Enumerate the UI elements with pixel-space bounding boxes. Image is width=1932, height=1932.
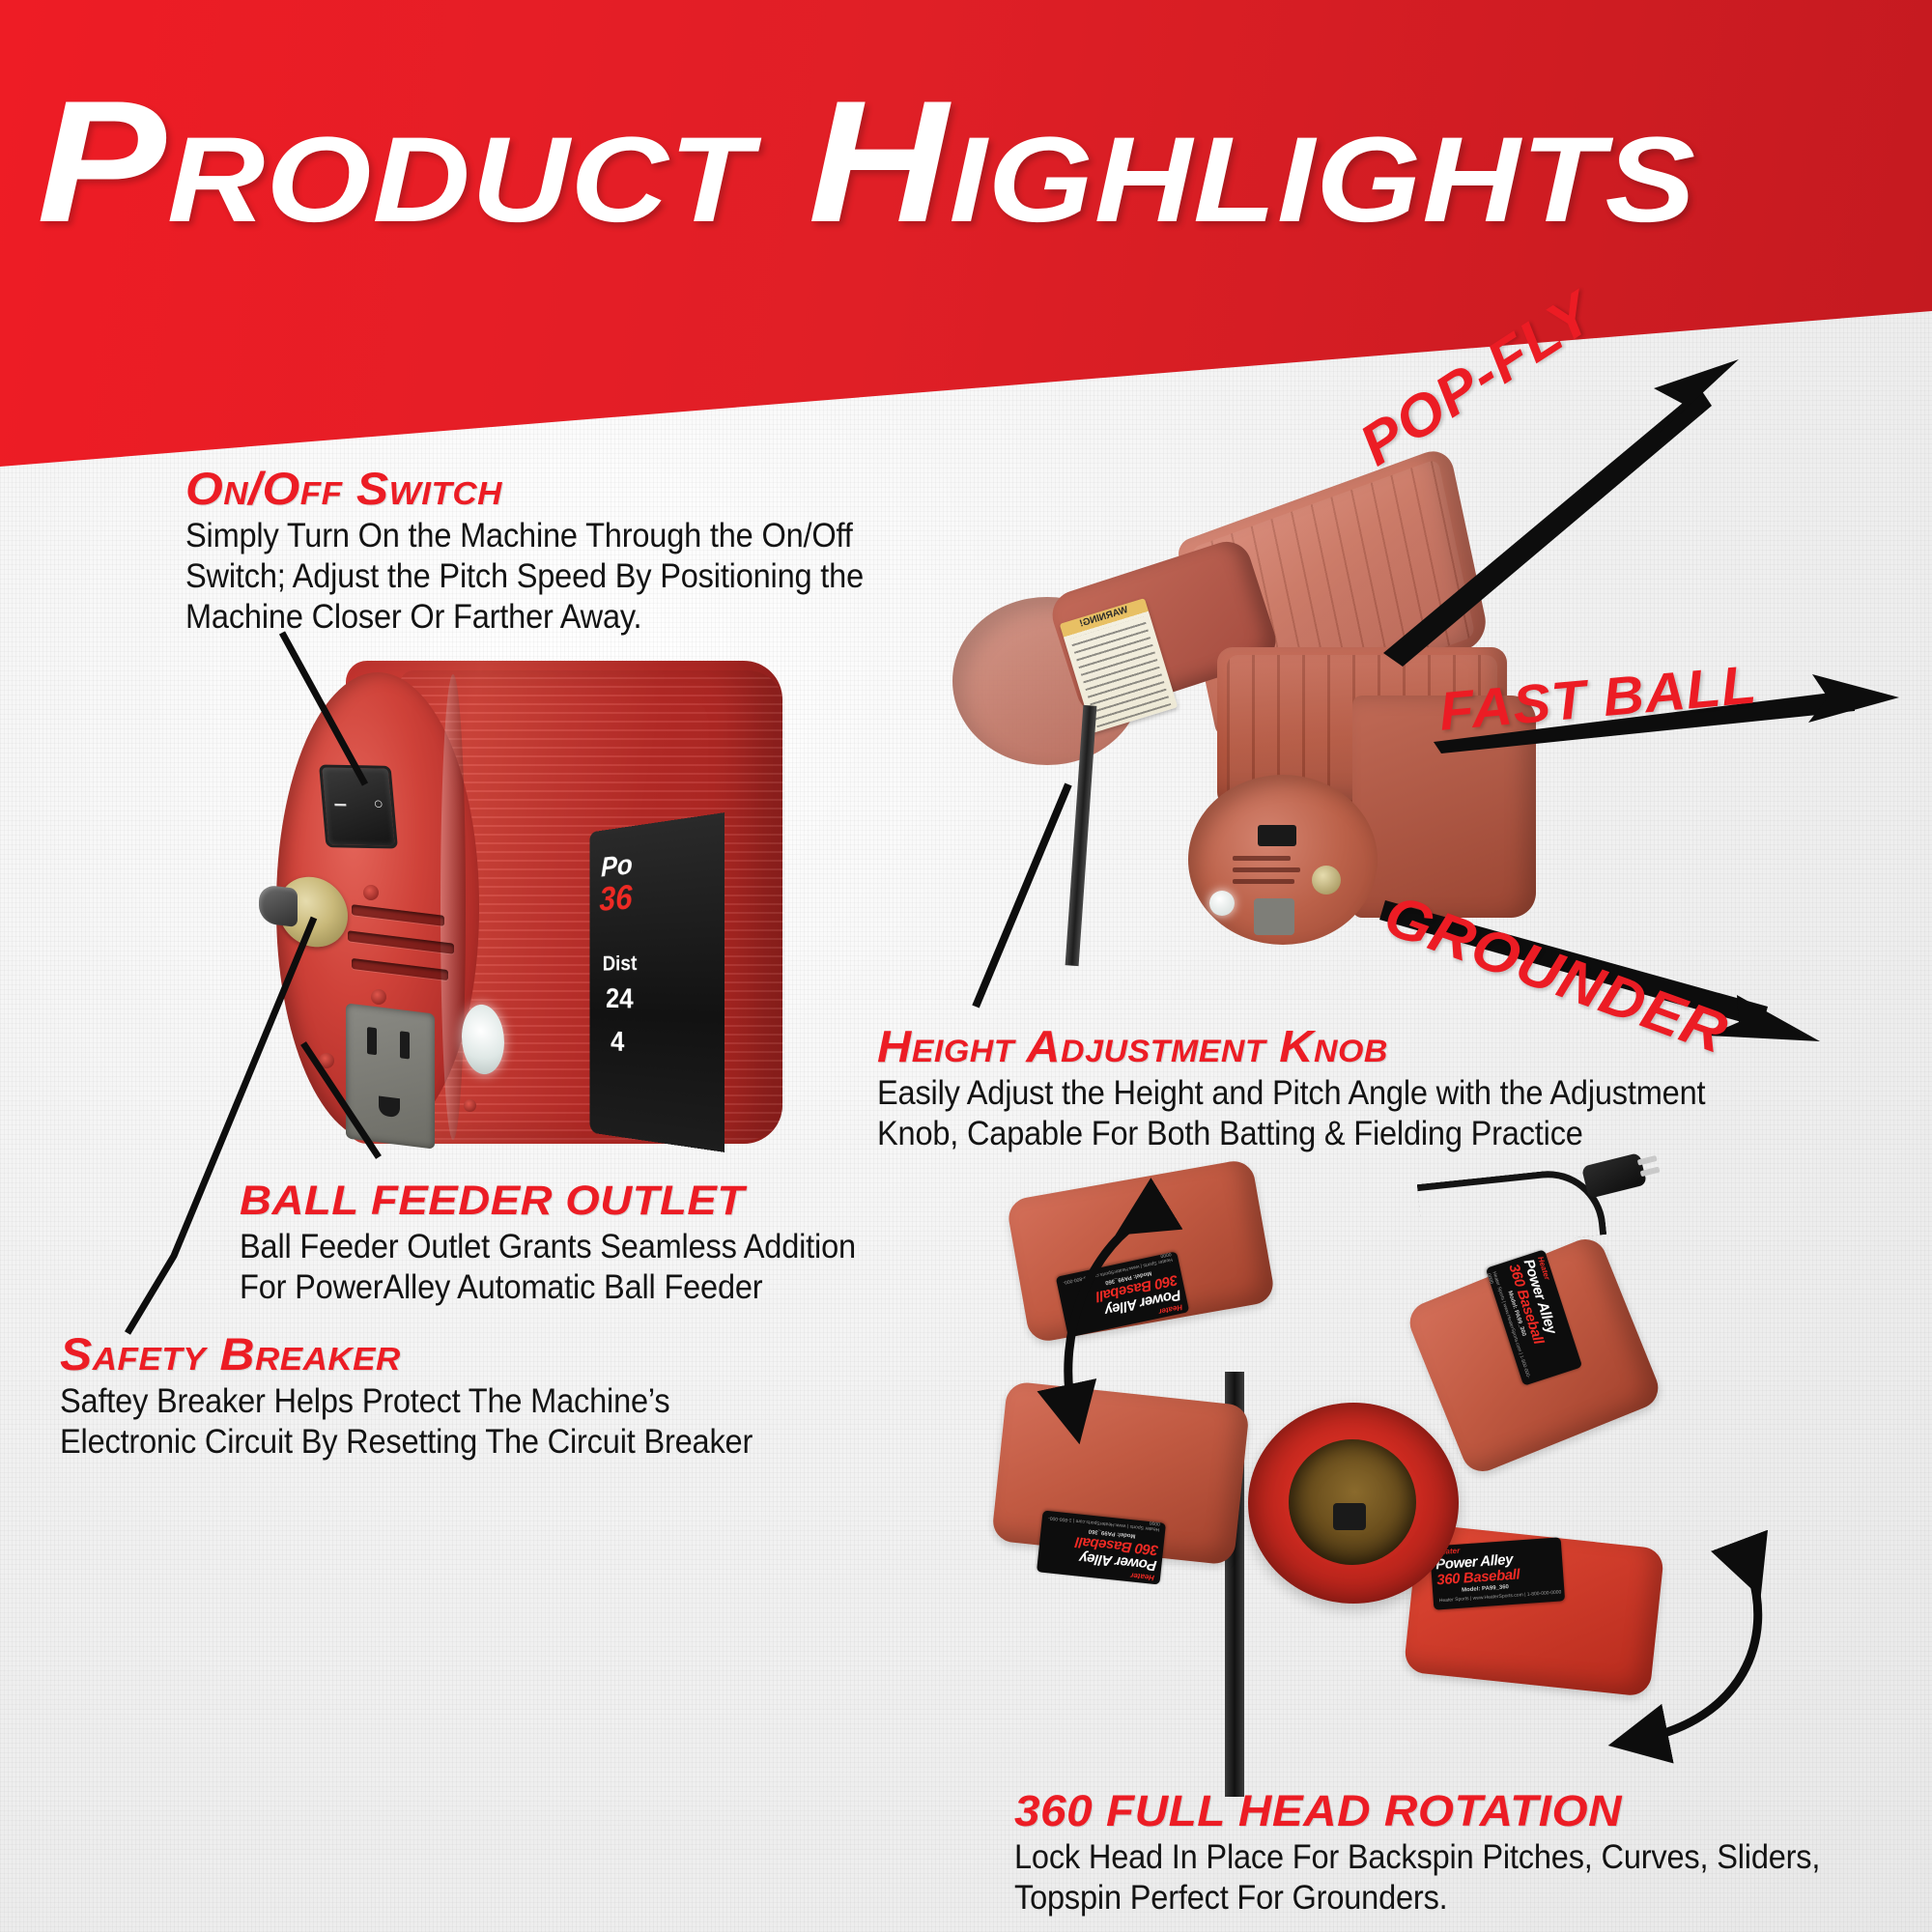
callout-body-ball-feeder-outlet: Ball Feeder Outlet Grants Seamless Addit…: [240, 1227, 923, 1308]
callout-heading-safety-breaker: Safety Breaker: [60, 1331, 920, 1378]
motor-endcap-rim: [440, 674, 466, 1140]
vent-slot: [1233, 867, 1300, 872]
screw-dot: [363, 885, 379, 900]
spec-label-model: 36: [599, 877, 632, 919]
vent-slot: [1233, 879, 1294, 884]
on-off-switch-photo: [1258, 825, 1296, 846]
pitch-barrel-bore: [1289, 1439, 1416, 1565]
power-plug: [1581, 1152, 1647, 1199]
ball-feeder-outlet-photo: [346, 1003, 435, 1149]
unit-label: Heater Power Alley 360 Baseball Model: P…: [1037, 1510, 1166, 1584]
callout-heading-height-adjustment-knob: Height Adjustment Knob: [877, 1024, 1912, 1069]
pitch-barrel: [1248, 1403, 1459, 1604]
unit-label-footer: Heater Sports | www.HeaterSports.com | 1…: [1439, 1589, 1562, 1604]
callout-360-full-head-rotation: 360 Full Head Rotation Lock Head In Plac…: [1014, 1789, 1884, 1918]
spec-label-distance-1: 24: [606, 983, 634, 1015]
callout-safety-breaker: Safety Breaker Saftey Breaker Helps Prot…: [60, 1331, 871, 1463]
callout-ball-feeder-outlet: Ball Feeder Outlet Ball Feeder Outlet Gr…: [240, 1180, 974, 1308]
screw-dot: [371, 989, 386, 1005]
callout-body-height-adjustment-knob: Easily Adjust the Height and Pitch Angle…: [877, 1073, 1784, 1154]
screw-dot: [319, 1053, 334, 1068]
callout-body-on-off-switch: Simply Turn On the Machine Through the O…: [185, 516, 913, 638]
safety-breaker-photo: [1312, 866, 1341, 895]
spec-label-distance-2: 4: [611, 1026, 624, 1059]
screw-dot: [464, 1099, 476, 1112]
motor-housing-face: [1188, 775, 1378, 945]
callout-heading-ball-feeder-outlet: Ball Feeder Outlet: [240, 1180, 1018, 1223]
callout-heading-360-full-head-rotation: 360 Full Head Rotation: [1014, 1789, 1932, 1833]
callout-body-safety-breaker: Saftey Breaker Helps Protect The Machine…: [60, 1381, 814, 1463]
spec-label-distance-title: Dist: [603, 951, 638, 976]
callout-body-360-full-head-rotation: Lock Head In Place For Backspin Pitches,…: [1014, 1837, 1823, 1918]
ball-feeder-outlet-photo: [1254, 898, 1294, 935]
on-off-switch-photo: [319, 765, 398, 849]
power-indicator-light: [1209, 891, 1235, 916]
product-photo-endcap: Po 36 Dist 24 4: [182, 618, 781, 1198]
unit-label: Heater Power Alley 360 Baseball Model: P…: [1430, 1537, 1565, 1609]
vent-slot: [1233, 856, 1291, 861]
callout-on-off-switch: On/Off Switch Simply Turn On the Machine…: [185, 466, 968, 638]
product-photo-frontview: Heater Power Alley 360 Baseball Model: P…: [1005, 1150, 1662, 1806]
page-title: Product Highlights: [37, 75, 1696, 249]
callout-heading-on-off-switch: On/Off Switch: [185, 466, 1015, 512]
spec-label: Po 36 Dist 24 4: [590, 812, 724, 1152]
